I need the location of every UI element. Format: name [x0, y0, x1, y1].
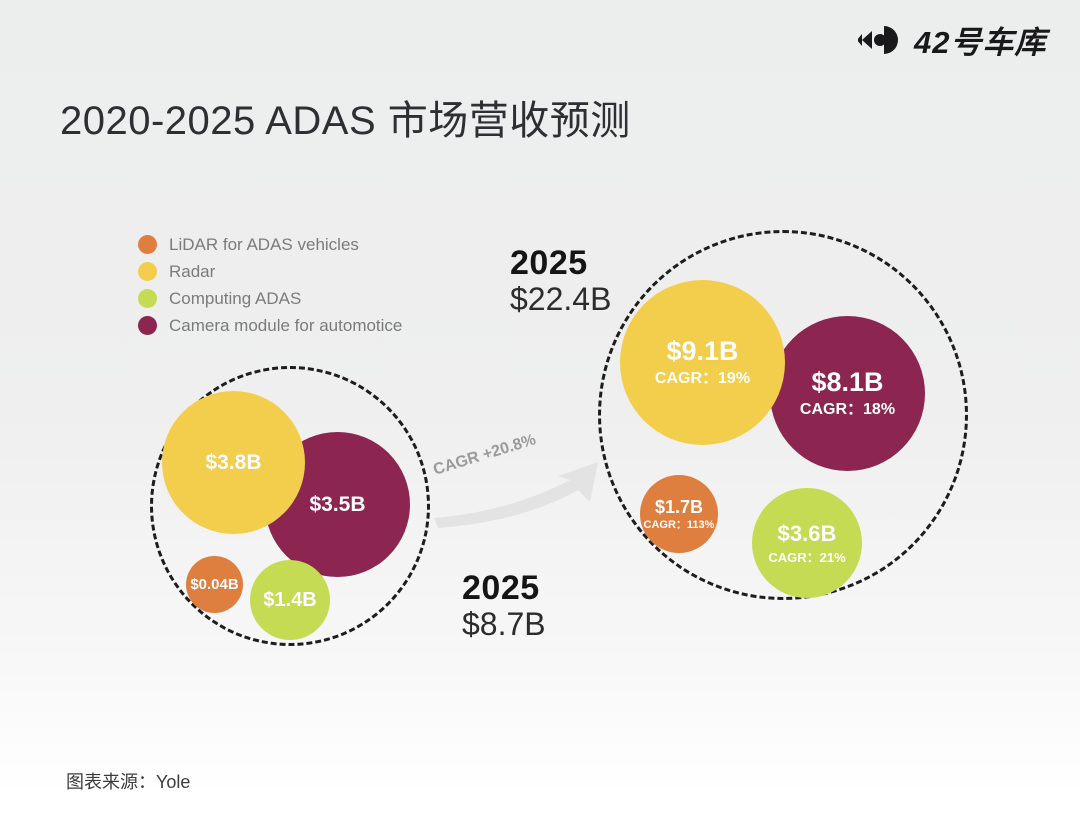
legend-label-computing: Computing ADAS [169, 289, 301, 309]
chart-legend: LiDAR for ADAS vehicles Radar Computing … [138, 232, 402, 340]
legend-item-computing: Computing ADAS [138, 286, 402, 311]
bubble-left-lidar: $0.04B [186, 556, 243, 613]
cluster-year-left: 2025 [462, 570, 546, 607]
bubble-cagr: CAGR：18% [800, 402, 895, 418]
bubble-right-camera: $8.1B CAGR：18% [770, 316, 925, 471]
legend-swatch-camera [138, 316, 157, 335]
cluster-amount-right: $22.4B [510, 282, 611, 317]
legend-item-radar: Radar [138, 259, 402, 284]
bubble-right-computing: $3.6B CAGR：21% [752, 488, 862, 598]
play-arrow-circle-icon [858, 24, 902, 61]
cluster-total-left: 2025 $8.7B [462, 570, 546, 641]
bubble-cagr: CAGR：19% [655, 371, 750, 387]
bubble-right-radar: $9.1B CAGR：19% [620, 280, 785, 445]
source-note: 图表来源：Yole [66, 768, 190, 794]
brand-logo: 42号车库 [858, 24, 1046, 61]
bubble-cagr: CAGR：113% [644, 520, 715, 531]
cluster-year-right: 2025 [510, 245, 611, 282]
cluster-total-right: 2025 $22.4B [510, 245, 611, 316]
cluster-amount-left: $8.7B [462, 607, 546, 642]
bubble-value: $1.4B [263, 590, 316, 610]
page-title: 2020-2025 ADAS 市场营收预测 [60, 88, 631, 146]
legend-swatch-radar [138, 262, 157, 281]
brand-wordmark: 42号车库 [914, 27, 1046, 58]
infographic-slide: 42号车库 2020-2025 ADAS 市场营收预测 LiDAR for AD… [0, 0, 1080, 828]
legend-label-lidar: LiDAR for ADAS vehicles [169, 235, 359, 255]
bubble-value: $3.6B [778, 523, 837, 545]
legend-item-camera: Camera module for automotice [138, 313, 402, 338]
bubble-value: $1.7B [655, 498, 703, 516]
bubble-value: $8.1B [811, 369, 883, 396]
growth-arrow: CAGR +20.8% [432, 440, 612, 530]
legend-item-lidar: LiDAR for ADAS vehicles [138, 232, 402, 257]
legend-swatch-computing [138, 289, 157, 308]
legend-swatch-lidar [138, 235, 157, 254]
bubble-left-computing: $1.4B [250, 560, 330, 640]
legend-label-camera: Camera module for automotice [169, 316, 402, 336]
legend-label-radar: Radar [169, 262, 215, 282]
bubble-cagr: CAGR：21% [768, 551, 845, 564]
bubble-value: $3.5B [309, 494, 365, 515]
bubble-value: $9.1B [666, 338, 738, 365]
bubble-value: $0.04B [190, 577, 238, 592]
bubble-right-lidar: $1.7B CAGR：113% [640, 475, 718, 553]
bubble-value: $3.8B [205, 452, 261, 473]
bubble-left-radar: $3.8B [162, 391, 305, 534]
